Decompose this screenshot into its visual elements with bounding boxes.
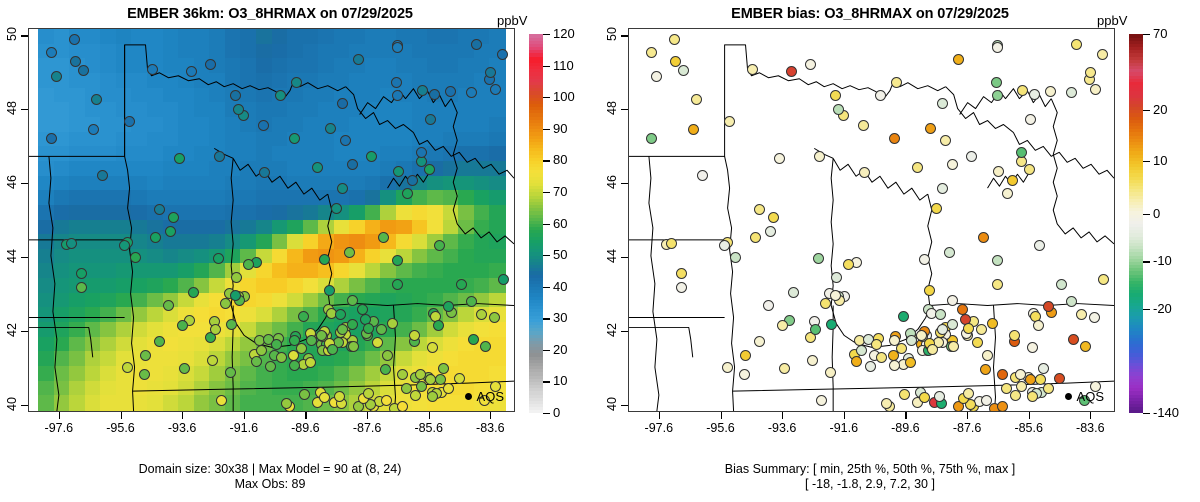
- colorbar-segment: [1129, 366, 1143, 370]
- colorbar-segment: [529, 378, 543, 382]
- colorbar-segment: [529, 37, 543, 41]
- colorbar-segment: [529, 293, 543, 297]
- colorbar-segment: [529, 72, 543, 76]
- colorbar-segment: [1129, 277, 1143, 281]
- colorbar-segment: [1129, 94, 1143, 98]
- colorbar-segment: [529, 233, 543, 237]
- colorbar-segment: [1129, 167, 1143, 171]
- colorbar-segment: [529, 344, 543, 348]
- colorbar-tick-label: 70: [1153, 26, 1167, 41]
- colorbar-tick: [543, 97, 550, 98]
- colorbar-segment: [529, 239, 543, 243]
- colorbar-segment: [1129, 53, 1143, 57]
- colorbar-segment: [529, 242, 543, 246]
- colorbar-tick-label: 70: [553, 184, 567, 199]
- colorbar-segment: [1129, 381, 1143, 385]
- colorbar-tick: [1143, 161, 1150, 162]
- colorbar-segment: [529, 94, 543, 98]
- colorbar-segment: [1129, 163, 1143, 167]
- colorbar-segment: [1129, 43, 1143, 47]
- colorbar-segment: [529, 179, 543, 183]
- colorbar-segment: [1129, 372, 1143, 376]
- colorbar-segment: [1129, 407, 1143, 411]
- colorbar-segment: [529, 126, 543, 130]
- colorbar-segment: [1129, 239, 1143, 243]
- colorbar-segment: [1129, 170, 1143, 174]
- colorbar-segment: [1129, 66, 1143, 70]
- colorbar-segment: [1129, 40, 1143, 44]
- colorbar-segment: [529, 163, 543, 167]
- colorbar-segment: [529, 366, 543, 370]
- colorbar-segment: [1129, 72, 1143, 76]
- colorbar-segment: [1129, 293, 1143, 297]
- colorbar-tick-label: 20: [1153, 102, 1167, 117]
- colorbar-tick-label: 90: [553, 121, 567, 136]
- colorbar-segment: [1129, 400, 1143, 404]
- bias-caption-line2: [ -18, -1.8, 2.9, 7.2, 30 ]: [600, 477, 1140, 492]
- colorbar-segment: [529, 325, 543, 329]
- colorbar-segment: [529, 227, 543, 231]
- colorbar-segment: [529, 321, 543, 325]
- colorbar-segment: [1129, 312, 1143, 316]
- colorbar-tick-label: 10: [1153, 153, 1167, 168]
- colorbar-segment: [1129, 385, 1143, 389]
- colorbar-segment: [529, 208, 543, 212]
- colorbar-segment: [1129, 353, 1143, 357]
- colorbar-segment: [1129, 375, 1143, 379]
- colorbar-tick-label: 30: [553, 310, 567, 325]
- colorbar-tick: [543, 381, 550, 382]
- colorbar-segment: [1129, 369, 1143, 373]
- colorbar-tick-label: 50: [553, 247, 567, 262]
- colorbar-tick: [543, 350, 550, 351]
- model-colorbar: ppbV 1201101009080706050403020100: [0, 0, 600, 502]
- colorbar-tick: [543, 224, 550, 225]
- model-colorbar-unit: ppbV: [497, 13, 527, 28]
- colorbar-segment: [1129, 309, 1143, 313]
- colorbar-segment: [529, 287, 543, 291]
- colorbar-tick: [543, 287, 550, 288]
- colorbar-segment: [529, 236, 543, 240]
- colorbar-segment: [529, 81, 543, 85]
- colorbar-segment: [1129, 347, 1143, 351]
- colorbar-tick: [543, 255, 550, 256]
- colorbar-segment: [1129, 173, 1143, 177]
- colorbar-tick-label: 0: [553, 405, 560, 420]
- colorbar-segment: [529, 388, 543, 392]
- colorbar-segment: [1129, 189, 1143, 193]
- colorbar-segment: [529, 100, 543, 104]
- colorbar-segment: [1129, 331, 1143, 335]
- colorbar-segment: [529, 296, 543, 300]
- colorbar-tick: [543, 413, 550, 414]
- colorbar-segment: [529, 129, 543, 133]
- colorbar-segment: [529, 268, 543, 272]
- colorbar-segment: [529, 224, 543, 228]
- colorbar-segment: [1129, 186, 1143, 190]
- colorbar-segment: [1129, 242, 1143, 246]
- colorbar-segment: [1129, 59, 1143, 63]
- colorbar-segment: [1129, 151, 1143, 155]
- colorbar-segment: [529, 47, 543, 51]
- colorbar-segment: [1129, 397, 1143, 401]
- colorbar-segment: [529, 56, 543, 60]
- figure-root: EMBER 36km: O3_8HRMAX on 07/29/2025: [0, 0, 1200, 502]
- colorbar-tick: [1143, 110, 1150, 111]
- colorbar-segment: [1129, 284, 1143, 288]
- colorbar-segment: [1129, 227, 1143, 231]
- colorbar-tick-label: 120: [553, 26, 575, 41]
- colorbar-segment: [1129, 217, 1143, 221]
- colorbar-segment: [1129, 280, 1143, 284]
- colorbar-segment: [1129, 391, 1143, 395]
- colorbar-segment: [529, 195, 543, 199]
- colorbar-segment: [529, 201, 543, 205]
- colorbar-segment: [529, 53, 543, 57]
- colorbar-segment: [1129, 88, 1143, 92]
- colorbar-segment: [1129, 182, 1143, 186]
- colorbar-segment: [529, 369, 543, 373]
- colorbar-segment: [1129, 224, 1143, 228]
- colorbar-segment: [529, 170, 543, 174]
- colorbar-segment: [529, 404, 543, 408]
- colorbar-segment: [1129, 62, 1143, 66]
- colorbar-segment: [529, 302, 543, 306]
- colorbar-segment: [529, 173, 543, 177]
- colorbar-segment: [529, 110, 543, 114]
- colorbar-segment: [529, 410, 543, 414]
- colorbar-segment: [1129, 198, 1143, 202]
- colorbar-segment: [1129, 220, 1143, 224]
- colorbar-segment: [529, 340, 543, 344]
- colorbar-segment: [1129, 141, 1143, 145]
- colorbar-segment: [1129, 37, 1143, 41]
- colorbar-segment: [529, 34, 543, 38]
- colorbar-segment: [1129, 107, 1143, 111]
- colorbar-segment: [529, 176, 543, 180]
- colorbar-segment: [529, 116, 543, 120]
- colorbar-segment: [529, 135, 543, 139]
- colorbar-segment: [1129, 344, 1143, 348]
- colorbar-segment: [1129, 56, 1143, 60]
- colorbar-segment: [1129, 252, 1143, 256]
- colorbar-segment: [1129, 356, 1143, 360]
- colorbar-segment: [529, 230, 543, 234]
- colorbar-segment: [1129, 290, 1143, 294]
- colorbar-segment: [529, 290, 543, 294]
- colorbar-segment: [1129, 258, 1143, 262]
- colorbar-segment: [1129, 404, 1143, 408]
- colorbar-segment: [529, 347, 543, 351]
- colorbar-segment: [1129, 126, 1143, 130]
- colorbar-segment: [1129, 296, 1143, 300]
- colorbar-segment: [1129, 135, 1143, 139]
- colorbar-segment: [1129, 205, 1143, 209]
- colorbar-segment: [529, 315, 543, 319]
- colorbar-segment: [1129, 148, 1143, 152]
- colorbar-segment: [529, 400, 543, 404]
- colorbar-segment: [529, 151, 543, 155]
- colorbar-segment: [529, 246, 543, 250]
- colorbar-tick-label: 60: [553, 216, 567, 231]
- colorbar-segment: [529, 69, 543, 73]
- colorbar-segment: [529, 66, 543, 70]
- colorbar-segment: [529, 309, 543, 313]
- colorbar-segment: [529, 138, 543, 142]
- colorbar-segment: [529, 141, 543, 145]
- colorbar-tick-label: 110: [553, 58, 574, 73]
- colorbar-segment: [1129, 265, 1143, 269]
- colorbar-segment: [1129, 116, 1143, 120]
- colorbar-tick: [543, 129, 550, 130]
- colorbar-segment: [529, 337, 543, 341]
- colorbar-segment: [1129, 246, 1143, 250]
- colorbar-segment: [529, 145, 543, 149]
- colorbar-segment: [529, 107, 543, 111]
- colorbar-tick-label: -140: [1153, 405, 1179, 420]
- colorbar-segment: [529, 59, 543, 63]
- colorbar-segment: [1129, 287, 1143, 291]
- colorbar-segment: [529, 397, 543, 401]
- colorbar-segment: [529, 78, 543, 82]
- colorbar-segment: [529, 265, 543, 269]
- bias-colorbar: ppbV 7020100-10-20-140: [600, 0, 1200, 502]
- colorbar-segment: [1129, 394, 1143, 398]
- colorbar-segment: [529, 122, 543, 126]
- colorbar-segment: [529, 85, 543, 89]
- colorbar-segment: [529, 353, 543, 357]
- colorbar-segment: [529, 394, 543, 398]
- colorbar-tick: [1143, 214, 1150, 215]
- colorbar-segment: [1129, 160, 1143, 164]
- colorbar-segment: [529, 356, 543, 360]
- colorbar-segment: [1129, 122, 1143, 126]
- colorbar-segment: [1129, 315, 1143, 319]
- colorbar-segment: [1129, 334, 1143, 338]
- colorbar-tick: [1143, 261, 1150, 262]
- colorbar-segment: [529, 328, 543, 332]
- bias-colorbar-unit: ppbV: [1097, 13, 1127, 28]
- colorbar-segment: [1129, 255, 1143, 259]
- colorbar-segment: [1129, 201, 1143, 205]
- colorbar-segment: [529, 132, 543, 136]
- colorbar-segment: [1129, 138, 1143, 142]
- colorbar-segment: [529, 154, 543, 158]
- colorbar-segment: [529, 192, 543, 196]
- colorbar-segment: [529, 375, 543, 379]
- model-caption-line2: Max Obs: 89: [0, 477, 540, 492]
- colorbar-segment: [1129, 378, 1143, 382]
- colorbar-segment: [1129, 230, 1143, 234]
- colorbar-segment: [1129, 100, 1143, 104]
- colorbar-segment: [529, 189, 543, 193]
- colorbar-segment: [1129, 211, 1143, 215]
- colorbar-tick: [543, 66, 550, 67]
- colorbar-segment: [1129, 81, 1143, 85]
- colorbar-segment: [1129, 154, 1143, 158]
- colorbar-segment: [1129, 157, 1143, 161]
- colorbar-segment: [529, 113, 543, 117]
- colorbar-segment: [529, 198, 543, 202]
- colorbar-segment: [529, 160, 543, 164]
- colorbar-segment: [529, 284, 543, 288]
- colorbar-segment: [529, 350, 543, 354]
- colorbar-segment: [1129, 78, 1143, 82]
- colorbar-segment: [1129, 268, 1143, 272]
- colorbar-segment: [529, 391, 543, 395]
- colorbar-segment: [529, 91, 543, 95]
- colorbar-segment: [529, 381, 543, 385]
- colorbar-segment: [1129, 75, 1143, 79]
- colorbar-segment: [1129, 85, 1143, 89]
- colorbar-segment: [529, 407, 543, 411]
- colorbar-segment: [1129, 325, 1143, 329]
- colorbar-segment: [529, 334, 543, 338]
- colorbar-segment: [1129, 410, 1143, 414]
- colorbar-segment: [529, 252, 543, 256]
- colorbar-segment: [529, 62, 543, 66]
- colorbar-segment: [1129, 50, 1143, 54]
- colorbar-segment: [1129, 321, 1143, 325]
- colorbar-segment: [1129, 318, 1143, 322]
- colorbar-segment: [529, 274, 543, 278]
- colorbar-segment: [529, 318, 543, 322]
- colorbar-segment: [1129, 359, 1143, 363]
- colorbar-segment: [1129, 362, 1143, 366]
- colorbar-segment: [529, 88, 543, 92]
- colorbar-segment: [529, 50, 543, 54]
- colorbar-segment: [1129, 132, 1143, 136]
- colorbar-tick-label: 0: [1153, 206, 1160, 221]
- colorbar-segment: [1129, 129, 1143, 133]
- colorbar-tick: [1143, 34, 1150, 35]
- colorbar-segment: [1129, 69, 1143, 73]
- colorbar-segment: [1129, 299, 1143, 303]
- colorbar-segment: [1129, 328, 1143, 332]
- colorbar-segment: [529, 157, 543, 161]
- colorbar-tick-label: 20: [553, 342, 567, 357]
- colorbar-segment: [1129, 179, 1143, 183]
- colorbar-segment: [529, 362, 543, 366]
- colorbar-tick-label: 10: [553, 373, 567, 388]
- colorbar-segment: [1129, 34, 1143, 38]
- colorbar-segment: [529, 306, 543, 310]
- colorbar-tick: [1143, 413, 1150, 414]
- colorbar-segment: [1129, 47, 1143, 51]
- colorbar-tick-label: -10: [1153, 253, 1172, 268]
- colorbar-segment: [529, 167, 543, 171]
- colorbar-segment: [529, 148, 543, 152]
- colorbar-segment: [1129, 97, 1143, 101]
- colorbar-segment: [529, 214, 543, 218]
- colorbar-segment: [1129, 236, 1143, 240]
- colorbar-segment: [529, 220, 543, 224]
- colorbar-segment: [1129, 192, 1143, 196]
- colorbar-segment: [529, 119, 543, 123]
- colorbar-segment: [529, 249, 543, 253]
- colorbar-segment: [529, 103, 543, 107]
- colorbar-segment: [529, 331, 543, 335]
- colorbar-segment: [1129, 271, 1143, 275]
- colorbar-segment: [1129, 306, 1143, 310]
- colorbar-segment: [529, 205, 543, 209]
- colorbar-segment: [1129, 145, 1143, 149]
- colorbar-tick-label: 80: [553, 152, 567, 167]
- colorbar-segment: [529, 280, 543, 284]
- colorbar-segment: [1129, 274, 1143, 278]
- colorbar-segment: [529, 261, 543, 265]
- model-caption-line1: Domain size: 30x38 | Max Model = 90 at (…: [0, 462, 540, 477]
- colorbar-segment: [529, 277, 543, 281]
- colorbar-segment: [1129, 208, 1143, 212]
- colorbar-segment: [529, 75, 543, 79]
- colorbar-segment: [1129, 91, 1143, 95]
- colorbar-segment: [1129, 214, 1143, 218]
- colorbar-segment: [1129, 103, 1143, 107]
- colorbar-segment: [1129, 337, 1143, 341]
- colorbar-segment: [529, 312, 543, 316]
- colorbar-segment: [1129, 261, 1143, 265]
- colorbar-segment: [529, 385, 543, 389]
- colorbar-segment: [1129, 388, 1143, 392]
- colorbar-tick: [543, 160, 550, 161]
- colorbar-tick-label: -20: [1153, 301, 1172, 316]
- colorbar-segment: [529, 359, 543, 363]
- colorbar-segment: [1129, 113, 1143, 117]
- colorbar-segment: [1129, 233, 1143, 237]
- colorbar-segment: [529, 97, 543, 101]
- colorbar-tick: [1143, 309, 1150, 310]
- colorbar-segment: [529, 299, 543, 303]
- colorbar-tick: [543, 34, 550, 35]
- colorbar-segment: [529, 271, 543, 275]
- colorbar-segment: [529, 182, 543, 186]
- colorbar-tick: [543, 318, 550, 319]
- colorbar-segment: [1129, 110, 1143, 114]
- colorbar-segment: [1129, 176, 1143, 180]
- colorbar-segment: [529, 40, 543, 44]
- bias-panel: EMBER bias: O3_8HRMAX on 07/29/2025: [600, 0, 1200, 502]
- bias-caption-line1: Bias Summary: [ min, 25th %, 50th %, 75t…: [600, 462, 1140, 477]
- model-panel: EMBER 36km: O3_8HRMAX on 07/29/2025: [0, 0, 600, 502]
- colorbar-segment: [1129, 340, 1143, 344]
- colorbar-segment: [529, 217, 543, 221]
- colorbar-segment: [529, 258, 543, 262]
- colorbar-segment: [1129, 302, 1143, 306]
- colorbar-segment: [529, 43, 543, 47]
- colorbar-tick-label: 100: [553, 89, 575, 104]
- colorbar-tick: [543, 192, 550, 193]
- colorbar-segment: [529, 372, 543, 376]
- colorbar-segment: [529, 186, 543, 190]
- colorbar-segment: [1129, 195, 1143, 199]
- colorbar-segment: [1129, 350, 1143, 354]
- colorbar-segment: [529, 255, 543, 259]
- colorbar-segment: [1129, 249, 1143, 253]
- colorbar-tick-label: 40: [553, 279, 567, 294]
- colorbar-segment: [1129, 119, 1143, 123]
- colorbar-segment: [529, 211, 543, 215]
